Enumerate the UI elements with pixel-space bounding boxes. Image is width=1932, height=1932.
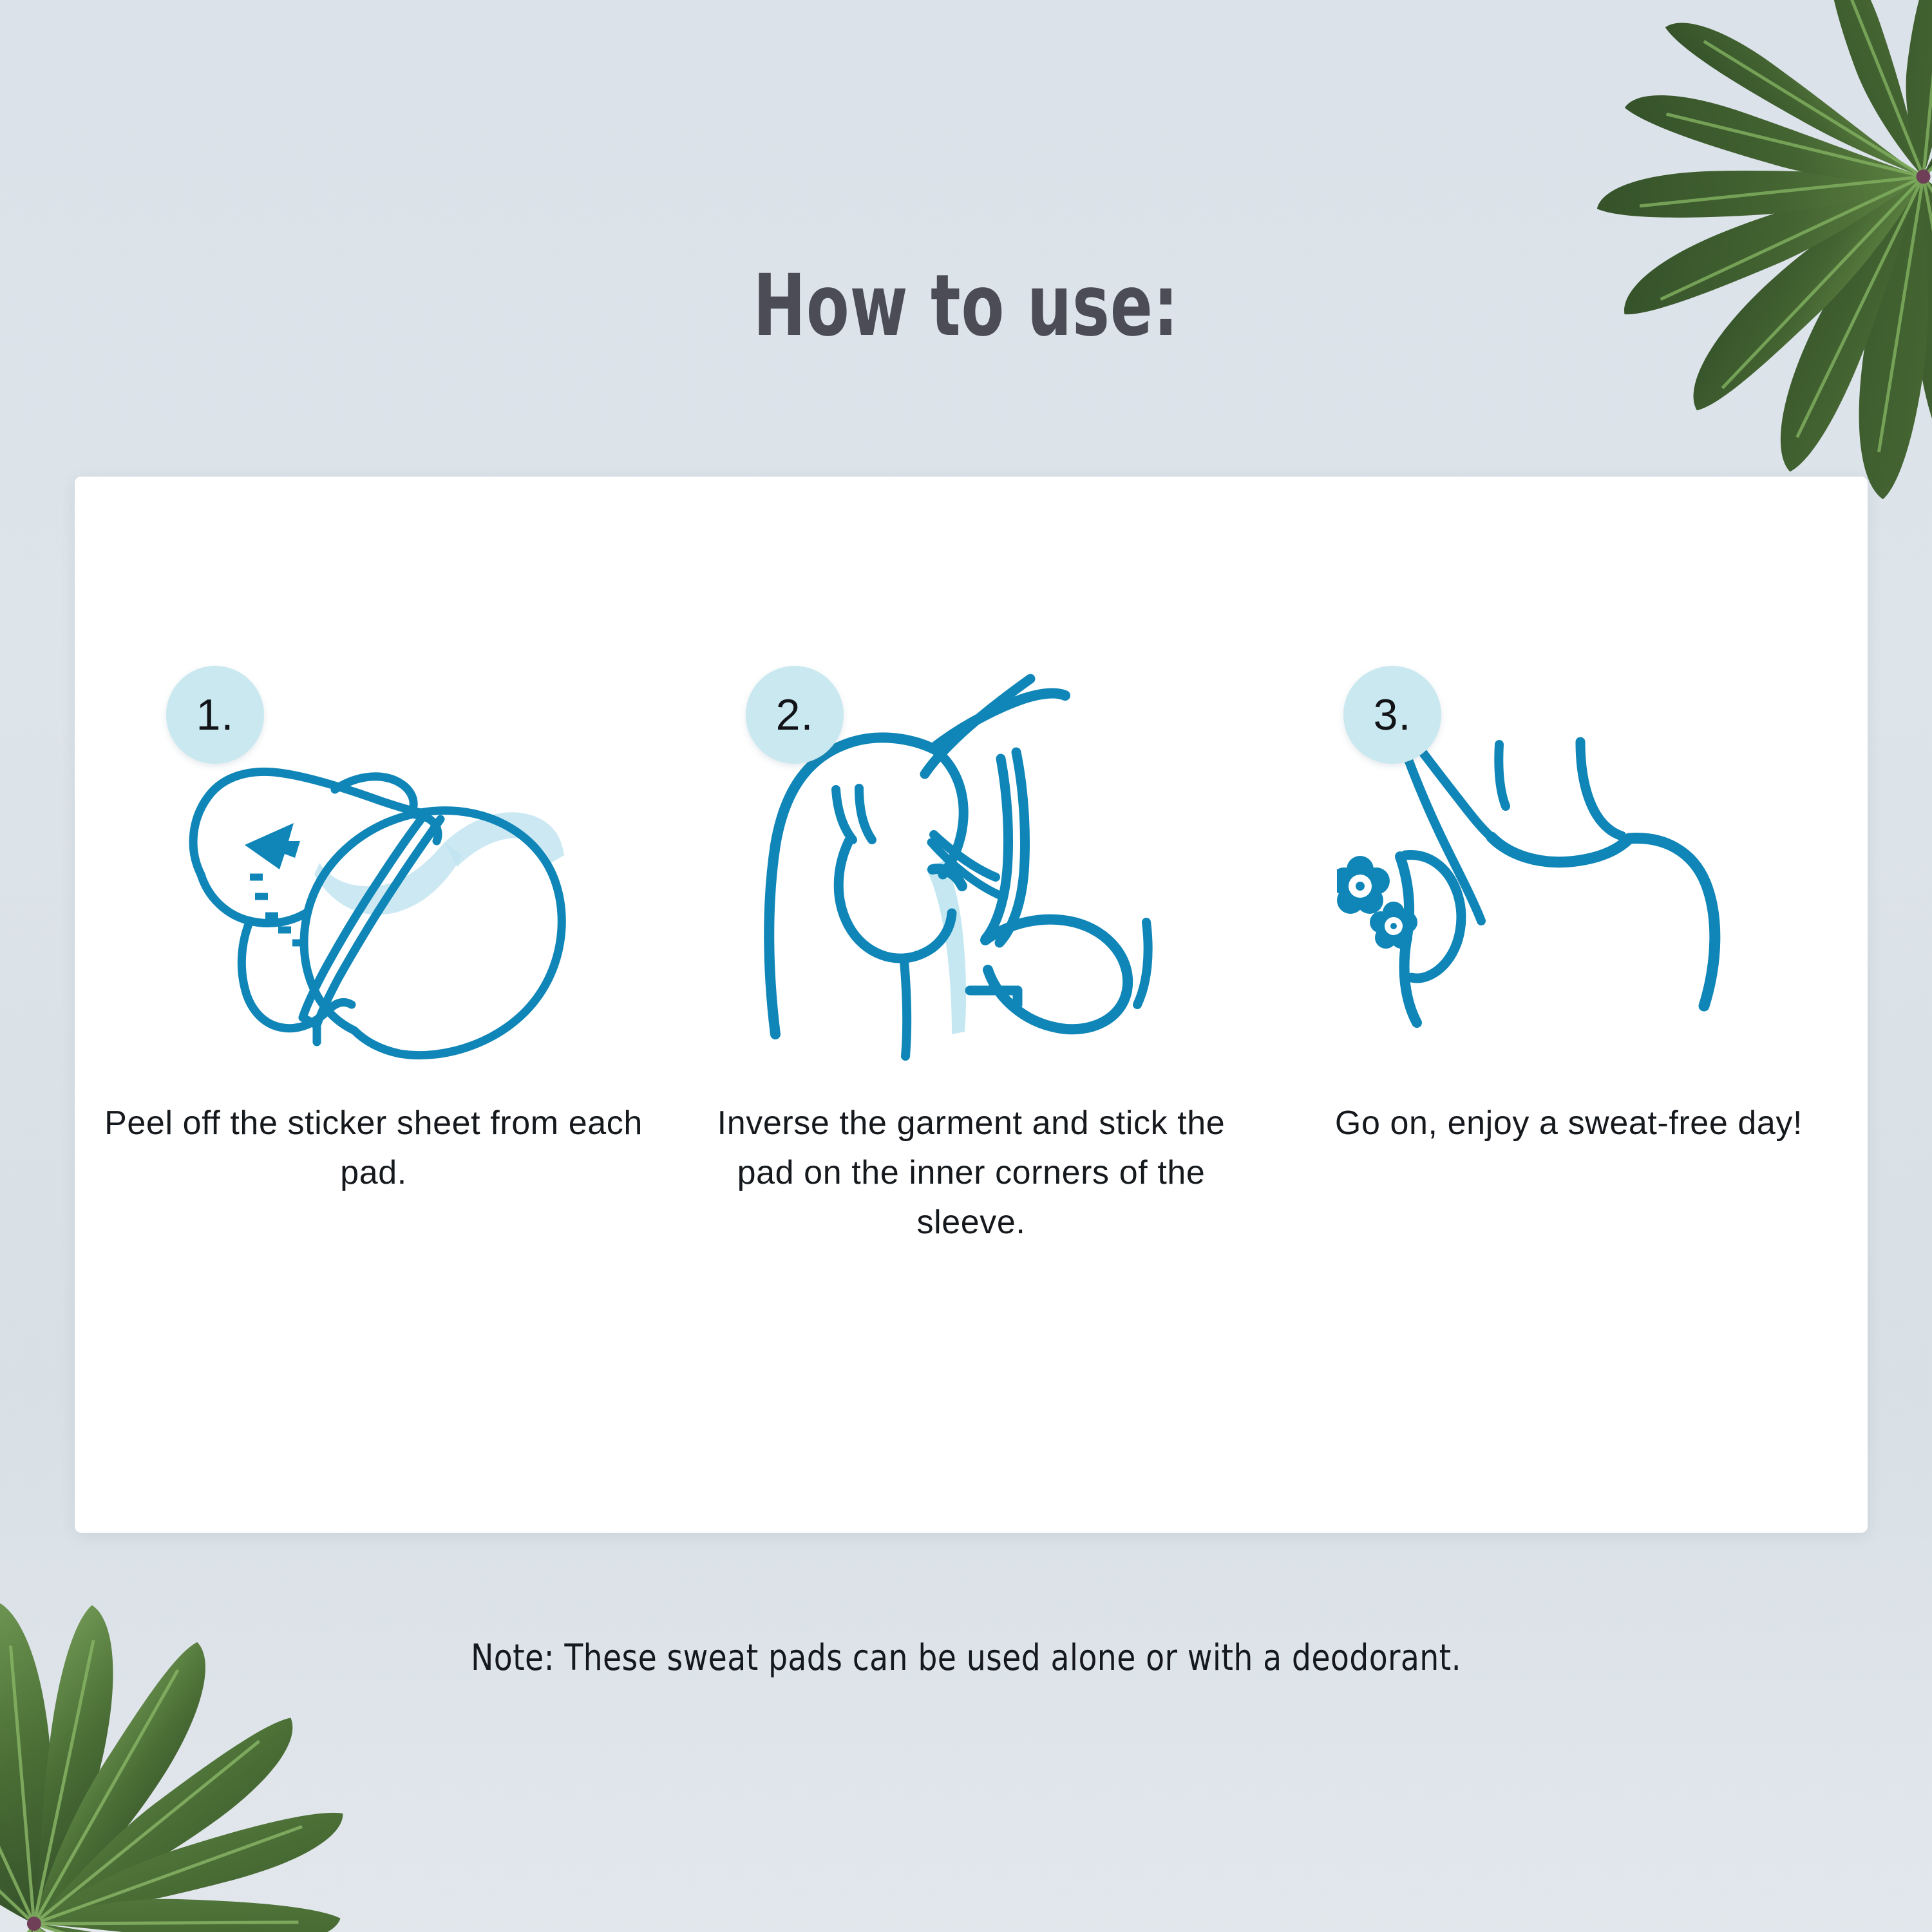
step-2-number: 2.: [776, 690, 814, 740]
step-2-number-badge: 2.: [746, 666, 844, 764]
step-1-number: 1.: [196, 690, 234, 740]
flower-icon-large: [1337, 856, 1390, 914]
step-2-illustration: 2.: [739, 670, 1203, 1082]
step-2-caption: Inverse the garment and stick the pad on…: [694, 1099, 1248, 1247]
step-1-number-badge: 1.: [166, 666, 264, 764]
step-3-illustration: 3.: [1337, 670, 1801, 1082]
peel-direction-arrow-icon: [245, 823, 300, 869]
page-title: How to use:: [174, 256, 1758, 355]
step-1-illustration: 1.: [142, 670, 605, 1082]
steps-container: 1.: [75, 670, 1868, 1247]
peel-dashed-guide: [250, 877, 305, 943]
step-3-number-badge: 3.: [1343, 666, 1441, 764]
bottom-note: Note: These sweat pads can be used alone…: [58, 1637, 1874, 1679]
step-2: 2.: [694, 670, 1248, 1247]
step-1: 1.: [97, 670, 650, 1198]
step-3-caption: Go on, enjoy a sweat-free day!: [1335, 1099, 1803, 1148]
instructions-card: 1.: [75, 477, 1868, 1533]
step-3-number: 3.: [1374, 690, 1412, 740]
step-3: 3.: [1292, 670, 1846, 1148]
step-1-caption: Peel off the sticker sheet from each pad…: [97, 1099, 650, 1198]
